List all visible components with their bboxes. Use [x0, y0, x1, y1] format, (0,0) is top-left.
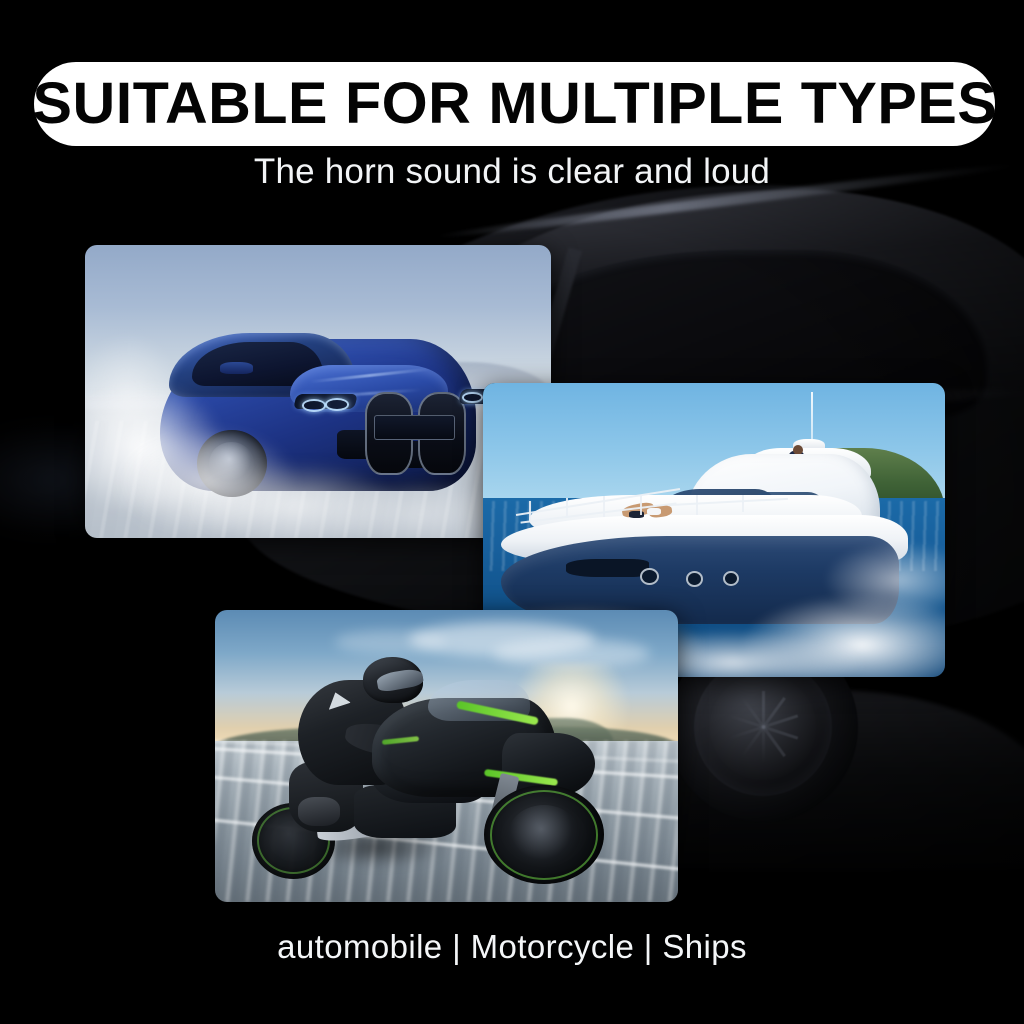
promo-banner: SUITABLE FOR MULTIPLE TYPES The horn sou…: [0, 0, 1024, 1024]
photo-card-motorcycle[interactable]: [215, 610, 678, 902]
photo-card-automobile[interactable]: [85, 245, 551, 538]
car-number-plate: [374, 415, 455, 440]
headline-pill: SUITABLE FOR MULTIPLE TYPES: [34, 62, 995, 146]
page-subtitle: The horn sound is clear and loud: [0, 152, 1024, 192]
page-title: SUITABLE FOR MULTIPLE TYPES: [32, 75, 997, 133]
motorcycle-front-wheel: [484, 785, 604, 884]
automobile-photo: [85, 245, 551, 538]
category-caption: automobile | Motorcycle | Ships: [0, 928, 1024, 966]
motorcycle-photo: [215, 610, 678, 902]
